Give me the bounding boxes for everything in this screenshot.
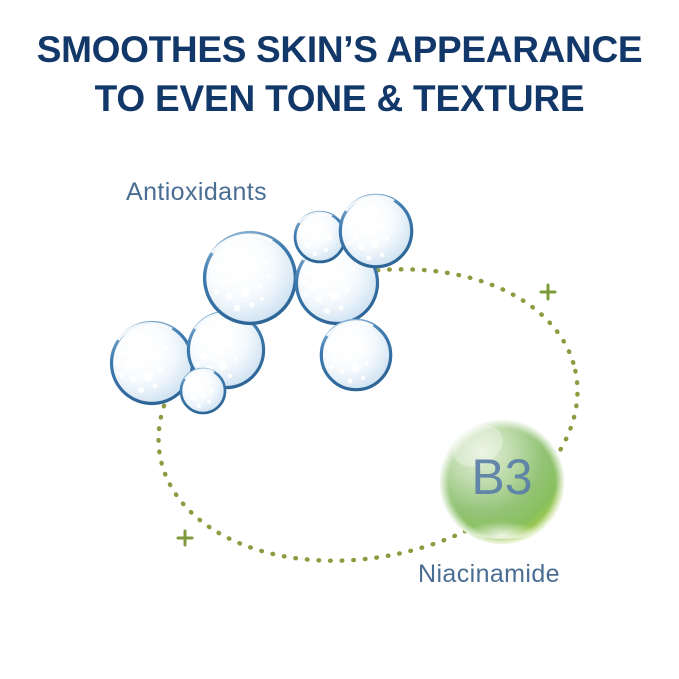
vitamin-b3-label: B3 — [471, 449, 532, 505]
plus-mark-lower-left — [178, 531, 192, 545]
graphics-layer: B3 — [0, 0, 679, 679]
bubble-3 — [180, 368, 226, 414]
antioxidants-label: Antioxidants — [126, 178, 267, 207]
bubble-6 — [294, 211, 346, 263]
bubble-8 — [320, 319, 392, 391]
bubble-7 — [339, 194, 413, 268]
bubble-4 — [203, 231, 297, 325]
antioxidant-bubble-cluster — [110, 194, 413, 414]
infographic-canvas: SMOOTHES SKIN’S APPEARANCE TO EVEN TONE … — [0, 0, 679, 679]
plus-mark-upper-right — [541, 285, 555, 299]
niacinamide-label: Niacinamide — [418, 560, 560, 589]
